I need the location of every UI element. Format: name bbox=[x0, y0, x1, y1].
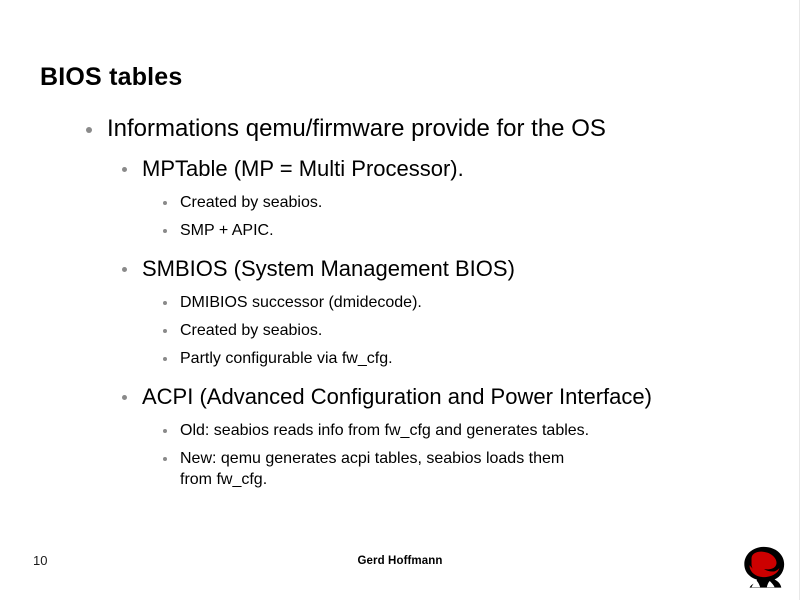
outline-item-text: New: qemu generates acpi tables, seabios… bbox=[180, 448, 600, 490]
outline-item-level2: ACPI (Advanced Configuration and Power I… bbox=[0, 383, 800, 411]
bullet-dot-icon bbox=[163, 229, 167, 233]
bullet-dot-icon bbox=[163, 301, 167, 305]
outline-item-level2: SMBIOS (System Management BIOS) bbox=[0, 255, 800, 283]
outline-item-text: MPTable (MP = Multi Processor). bbox=[142, 155, 800, 183]
outline-item-text: SMP + APIC. bbox=[180, 220, 720, 241]
footer-author-name: Gerd Hoffmann bbox=[0, 555, 800, 567]
bullet-dot-icon bbox=[122, 395, 127, 400]
slide-footer: 10 Gerd Hoffmann bbox=[0, 542, 800, 600]
bullet-dot-icon bbox=[163, 429, 167, 433]
slide-body-outline: Informations qemu/firmware provide for t… bbox=[0, 114, 800, 497]
outline-item-text: SMBIOS (System Management BIOS) bbox=[142, 255, 800, 283]
bullet-dot-icon bbox=[163, 201, 167, 205]
outline-item-level3: DMIBIOS successor (dmidecode). bbox=[0, 292, 800, 313]
outline-item-text: Created by seabios. bbox=[180, 192, 720, 213]
outline-item-text: Informations qemu/firmware provide for t… bbox=[107, 114, 800, 144]
presentation-slide: BIOS tables Informations qemu/firmware p… bbox=[0, 0, 800, 600]
outline-item-text: Old: seabios reads info from fw_cfg and … bbox=[180, 420, 720, 441]
outline-item-level3: Partly configurable via fw_cfg. bbox=[0, 348, 800, 369]
bullet-dot-icon bbox=[163, 357, 167, 361]
outline-item-text: ACPI (Advanced Configuration and Power I… bbox=[142, 383, 800, 411]
outline-item-level3: Created by seabios. bbox=[0, 320, 800, 341]
outline-item-text: Created by seabios. bbox=[180, 320, 720, 341]
outline-item-level1: Informations qemu/firmware provide for t… bbox=[0, 114, 800, 144]
bullet-dot-icon bbox=[86, 127, 92, 133]
page-title: BIOS tables bbox=[40, 63, 183, 92]
bullet-dot-icon bbox=[163, 457, 167, 461]
outline-item-level3: Created by seabios. bbox=[0, 192, 800, 213]
outline-item-level2: MPTable (MP = Multi Processor). bbox=[0, 155, 800, 183]
outline-item-level3: SMP + APIC. bbox=[0, 220, 800, 241]
outline-item-text: DMIBIOS successor (dmidecode). bbox=[180, 292, 720, 313]
outline-item-level3: Old: seabios reads info from fw_cfg and … bbox=[0, 420, 800, 441]
red-hat-shadowman-logo-icon bbox=[740, 544, 788, 592]
bullet-dot-icon bbox=[163, 329, 167, 333]
bullet-dot-icon bbox=[122, 267, 127, 272]
outline-item-level3: New: qemu generates acpi tables, seabios… bbox=[0, 448, 800, 490]
bullet-dot-icon bbox=[122, 167, 127, 172]
outline-item-text: Partly configurable via fw_cfg. bbox=[180, 348, 720, 369]
